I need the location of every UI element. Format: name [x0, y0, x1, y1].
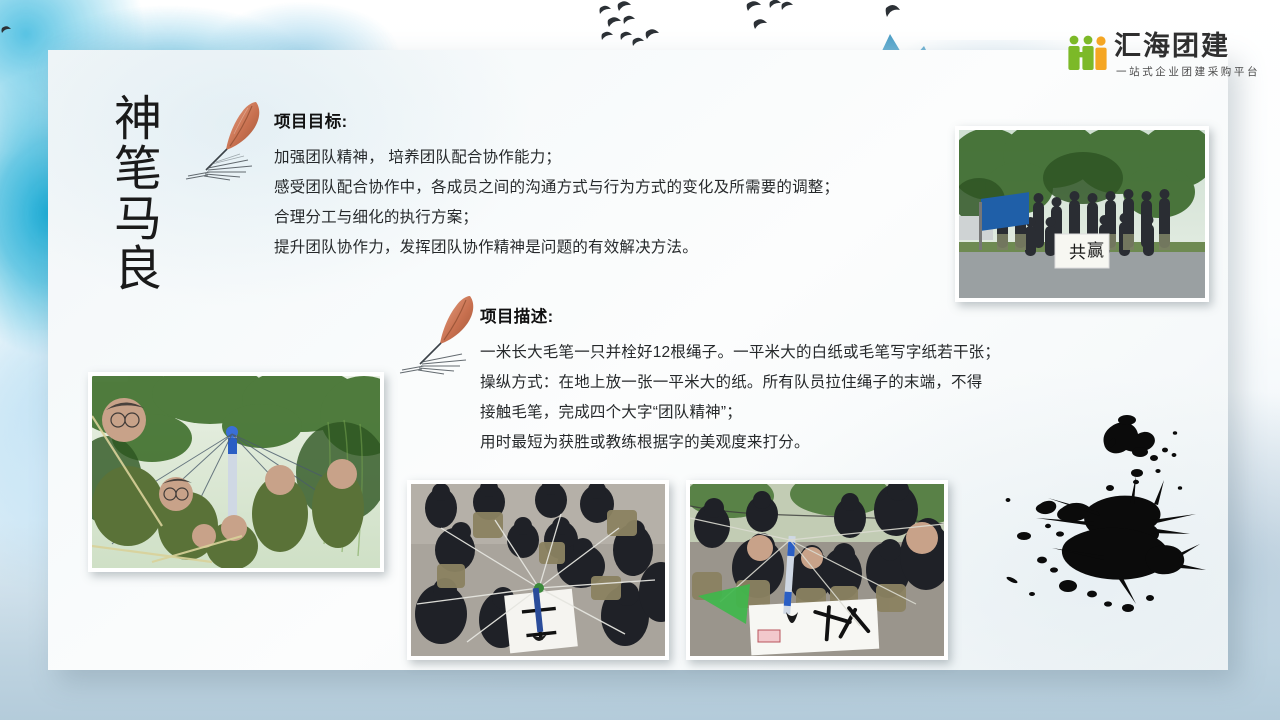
brand-logo[interactable]: 汇海团建 一站式企业团建采购平台 [1066, 32, 1256, 88]
photo-forest-activity[interactable] [88, 372, 384, 572]
photo-circle-activity[interactable] [407, 480, 669, 660]
project-goals-block: 项目目标: 加强团队精神， 培养团队配合协作能力； 感受团队配合协作中，各成员之… [274, 108, 839, 263]
photo-team-group[interactable]: 共 赢 [955, 126, 1209, 302]
hi-people-logo-icon [1066, 34, 1108, 72]
ink-splatter-icon [1002, 408, 1230, 616]
photo-writing-activity-image [690, 484, 944, 656]
photo-team-group-image: 共 赢 [959, 130, 1205, 298]
project-description-line: 接触毛笔，完成四个大字“团队精神”； [480, 398, 1000, 428]
svg-text:共: 共 [1069, 243, 1086, 262]
quill-pen-icon [396, 288, 488, 380]
brand-tagline: 一站式企业团建采购平台 [1116, 64, 1260, 79]
page-title: 神笔马良 [84, 78, 160, 308]
project-goals-line: 合理分工与细化的执行方案； [274, 203, 839, 233]
brand-name: 汇海团建 [1114, 30, 1230, 62]
slide-canvas: 神笔马良 [0, 0, 1280, 720]
photo-circle-activity-image [411, 484, 665, 656]
project-description-line: 一米长大毛笔一只并栓好12根绳子。一平米大的白纸或毛笔写字纸若干张； [480, 338, 1000, 368]
project-goals-line: 感受团队配合协作中，各成员之间的沟通方式与行为方式的变化及所需要的调整； [274, 173, 839, 203]
project-description-heading: 项目描述: [480, 303, 1000, 327]
project-description-line: 操纵方式：在地上放一张一平米大的纸。所有队员拉住绳子的末端，不得 [480, 368, 1000, 398]
project-goals-line: 加强团队精神， 培养团队配合协作能力； [274, 143, 839, 173]
project-description-block: 项目描述: 一米长大毛笔一只并栓好12根绳子。一平米大的白纸或毛笔写字纸若干张；… [480, 303, 1000, 458]
project-goals-heading: 项目目标: [274, 108, 839, 132]
quill-pen-icon [182, 94, 274, 186]
svg-text:赢: 赢 [1087, 241, 1104, 260]
photo-writing-activity[interactable] [686, 480, 948, 660]
project-goals-line: 提升团队协作力，发挥团队协作精神是问题的有效解决方法。 [274, 233, 839, 263]
project-description-line: 用时最短为获胜或教练根据字的美观度来打分。 [480, 428, 1000, 458]
photo-forest-activity-image [92, 376, 380, 568]
